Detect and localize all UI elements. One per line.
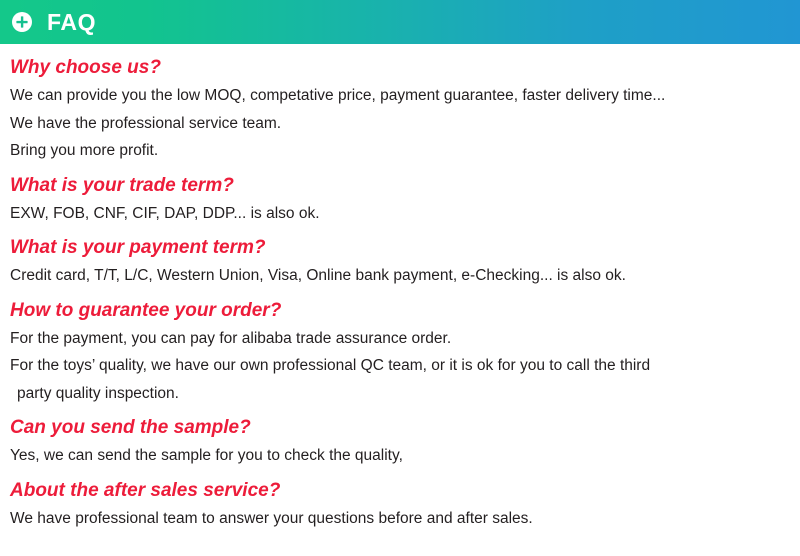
faq-answer: For the payment, you can pay for alibaba… [10,331,790,347]
faq-answer: For the toys’ quality, we have our own p… [10,358,790,374]
faq-answer: party quality inspection. [10,386,790,402]
plus-circle-icon [12,12,32,32]
faq-question: Can you send the sample? [10,418,790,437]
faq-question: How to guarantee your order? [10,301,790,320]
faq-item-2: What is your trade term? EXW, FOB, CNF, … [10,176,790,222]
faq-item-4: How to guarantee your order? For the pay… [10,301,790,402]
faq-item-1: Why choose us? We can provide you the lo… [10,58,790,159]
faq-answer: We can provide you the low MOQ, competat… [10,88,790,104]
faq-question: What is your payment term? [10,238,790,257]
faq-content: Why choose us? We can provide you the lo… [0,58,800,526]
faq-answer: EXW, FOB, CNF, CIF, DAP, DDP... is also … [10,206,790,222]
faq-answer: Bring you more profit. [10,143,790,159]
faq-item-5: Can you send the sample? Yes, we can sen… [10,418,790,464]
faq-item-3: What is your payment term? Credit card, … [10,238,790,284]
faq-answer: Yes, we can send the sample for you to c… [10,448,790,464]
page-title: FAQ [47,11,96,34]
faq-question: About the after sales service? [10,481,790,500]
faq-answer: We have the professional service team. [10,116,790,132]
faq-question: Why choose us? [10,58,790,77]
faq-question: What is your trade term? [10,176,790,195]
faq-item-6: About the after sales service? We have p… [10,481,790,527]
faq-answer: Credit card, T/T, L/C, Western Union, Vi… [10,268,790,284]
faq-header: FAQ [0,0,800,44]
faq-answer: We have professional team to answer your… [10,511,790,527]
faq-page: FAQ Why choose us? We can provide you th… [0,0,800,556]
